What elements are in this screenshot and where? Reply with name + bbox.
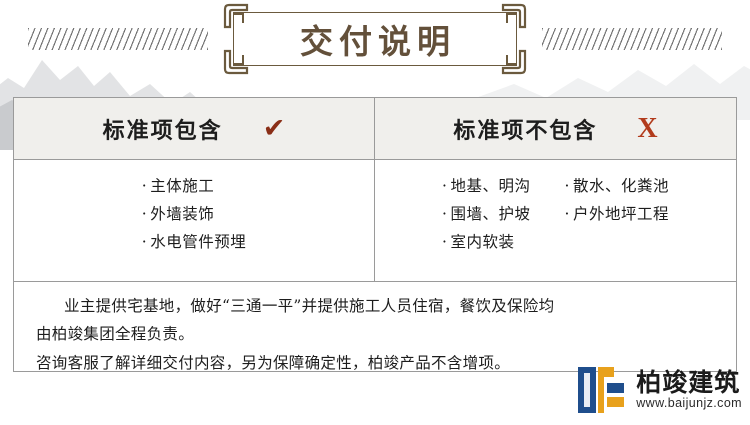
list-item: 室内软装 [442,230,530,252]
list-item: 散水、化粪池 [565,174,669,196]
hatch-decoration-left [28,28,208,50]
list-item: 户外地坪工程 [565,202,669,224]
list-item: 围墙、护坡 [442,202,530,224]
excluded-items-list-right: 散水、化粪池 户外地坪工程 [565,174,669,281]
included-items-cell: 主体施工 外墙装饰 水电管件预埋 [14,160,375,281]
table-header-excluded: 标准项不包含 X [375,98,736,159]
notes-block: 业主提供宅基地，做好“三通一平”并提供施工人员住宿，餐饮及保险均 由柏竣集团全程… [13,282,737,372]
page-title: 交付说明 [225,5,525,73]
excluded-items-columns: 地基、明沟 围墙、护坡 室内软装 散水、化粪池 户外地坪工程 [442,174,669,281]
excluded-items-list-left: 地基、明沟 围墙、护坡 室内软装 [442,174,530,281]
list-item: 地基、明沟 [442,174,530,196]
page-root: 交付说明 标准项包含 ✔ 标准项不包含 X 主体施工 外墙装饰 水电管件预埋 [0,0,750,425]
cross-icon: X [637,115,657,143]
list-item: 主体施工 [142,174,246,196]
included-column-title: 标准项包含 [103,113,223,145]
excluded-items-cell: 地基、明沟 围墙、护坡 室内软装 散水、化粪池 户外地坪工程 [375,160,736,281]
brand-text: 柏竣建筑 www.baijunjz.com [636,370,742,409]
table-body-row: 主体施工 外墙装饰 水电管件预埋 地基、明沟 围墙、护坡 室内软装 散水、化粪池… [14,160,736,281]
check-icon: ✔ [263,115,286,142]
baijunjz-logo-icon [574,363,628,417]
hatch-decoration-right [542,28,722,50]
brand-website: www.baijunjz.com [636,397,742,410]
included-items-list: 主体施工 外墙装饰 水电管件预埋 [142,174,246,281]
title-frame: 交付说明 [225,5,525,73]
excluded-column-title: 标准项不包含 [453,113,597,145]
table-header-row: 标准项包含 ✔ 标准项不包含 X [14,98,736,160]
brand-logo: 柏竣建筑 www.baijunjz.com [574,363,742,417]
page-header: 交付说明 [0,0,750,78]
note-line-1: 业主提供宅基地，做好“三通一平”并提供施工人员住宿，餐饮及保险均 [36,295,714,317]
brand-name: 柏竣建筑 [636,370,742,396]
list-item: 水电管件预埋 [142,230,246,252]
table-header-included: 标准项包含 ✔ [14,98,375,159]
note-line-2: 由柏竣集团全程负责。 [36,323,714,345]
delivery-scope-table: 标准项包含 ✔ 标准项不包含 X 主体施工 外墙装饰 水电管件预埋 地基、明沟 [13,97,737,282]
list-item: 外墙装饰 [142,202,246,224]
